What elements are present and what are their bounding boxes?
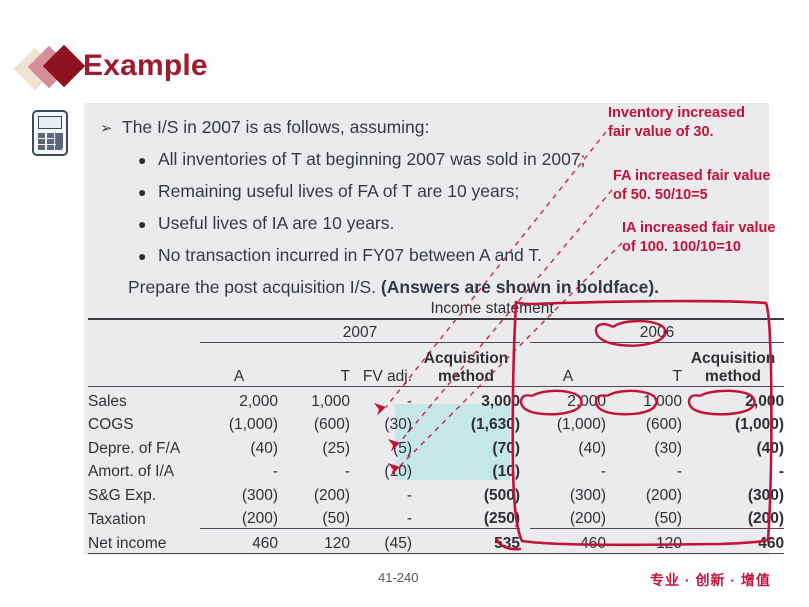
bullet-item-3: ●Useful lives of IA are 10 years. (138, 208, 660, 240)
table-row: COGS (1,000) (600) (30) (1,630) (1,000) … (88, 411, 784, 435)
colheader-2007-t: T (278, 343, 350, 387)
closing-bold: (Answers are shown in boldface). (381, 277, 659, 297)
cell-2007-a: - (200, 458, 278, 482)
round-bullet-icon: ● (138, 241, 158, 272)
annotation-line-2: of 100. 100/10=10 (622, 238, 775, 257)
annotation-line-1: IA increased fair value (622, 219, 775, 238)
cell-2006-t: 120 (606, 529, 682, 554)
bullet-text: No transaction incurred in FY07 between … (158, 245, 542, 265)
cell-2006-acq: 2,000 (682, 387, 784, 411)
cell-2007-a: (1,000) (200, 411, 278, 435)
bullet-item-1: ●All inventories of T at beginning 2007 … (138, 144, 660, 176)
colheader-2006-acq-label: Acquisition method (682, 350, 784, 386)
annotation-ia: IA increased fair value of 100. 100/10=1… (622, 219, 775, 257)
cell-2007-t: (200) (278, 481, 350, 505)
super-header-cell: Income statement (200, 296, 784, 319)
lead-text: The I/S in 2007 is as follows, assuming: (122, 117, 429, 137)
spacer-cell (88, 296, 200, 319)
table-superheader-row: Income statement (88, 296, 784, 319)
cell-2007-t: - (278, 458, 350, 482)
brand-slogan: 专业 · 创新 · 增值 (650, 570, 771, 590)
arrow-bullet-icon: ➢ (100, 113, 122, 144)
cell-2007-fvadj: - (350, 505, 412, 529)
colheader-2007-acq-label: Acquisition method (412, 350, 520, 386)
row-label: COGS (88, 411, 200, 435)
annotation-fa: FA increased fair value of 50. 50/10=5 (613, 167, 770, 205)
spacer-cell (520, 505, 530, 529)
table-year-row: 2007 2006 (88, 319, 784, 343)
cell-2006-acq: (1,000) (682, 411, 784, 435)
cell-2006-t: (600) (606, 411, 682, 435)
colheader-2006-acq: Acquisition method (682, 343, 784, 387)
cell-2007-fvadj: (30) (350, 411, 412, 435)
page-title: Example (83, 49, 208, 83)
cell-2007-a: (300) (200, 481, 278, 505)
round-bullet-icon: ● (138, 145, 158, 176)
cell-2007-acq: (70) (412, 434, 520, 458)
cell-2007-acq: (500) (412, 481, 520, 505)
cell-2007-acq: (10) (412, 458, 520, 482)
spacer-cell (520, 411, 530, 435)
bullet-text: Remaining useful lives of FA of T are 10… (158, 181, 519, 201)
cell-2007-fvadj: (45) (350, 529, 412, 554)
spacer-cell (520, 481, 530, 505)
year-left-cell: 2007 (200, 319, 520, 343)
cell-2007-t: 1,000 (278, 387, 350, 411)
cell-2006-a: (40) (530, 434, 606, 458)
spacer-cell (88, 343, 200, 387)
cell-2006-acq: (300) (682, 481, 784, 505)
cell-2007-t: (50) (278, 505, 350, 529)
annotation-line-2: fair value of 30. (608, 123, 745, 142)
cell-2006-t: (30) (606, 434, 682, 458)
cell-2007-t: (25) (278, 434, 350, 458)
row-label: S&G Exp. (88, 481, 200, 505)
table-row: Depre. of F/A (40) (25) (5) (70) (40) (3… (88, 434, 784, 458)
spacer-cell (520, 458, 530, 482)
annotation-inventory: Inventory increased fair value of 30. (608, 104, 745, 142)
row-label: Sales (88, 387, 200, 411)
colheader-2007-acq: Acquisition method (412, 343, 520, 387)
closing-plain: Prepare the post acquisition I/S. (128, 277, 381, 297)
table-row: Net income 460 120 (45) 535 460 120 460 (88, 529, 784, 554)
colheader-2006-t: T (606, 343, 682, 387)
cell-2006-t: (200) (606, 481, 682, 505)
cell-2006-acq: (40) (682, 434, 784, 458)
bullet-text: All inventories of T at beginning 2007 w… (158, 149, 585, 169)
row-label: Amort. of I/A (88, 458, 200, 482)
row-label: Net income (88, 529, 200, 554)
table-row: Amort. of I/A - - (10) (10) - - - (88, 458, 784, 482)
colheader-2007-a: A (200, 343, 278, 387)
income-statement-table: Income statement 2007 2006 A T FV adj. A… (88, 296, 768, 554)
calculator-enter-key (56, 133, 63, 148)
cell-2007-acq: (1,630) (412, 411, 520, 435)
colheader-2006-a: A (530, 343, 606, 387)
row-label: Taxation (88, 505, 200, 529)
bullet-item-2: ●Remaining useful lives of FA of T are 1… (138, 176, 660, 208)
lead-line: ➢The I/S in 2007 is as follows, assuming… (100, 112, 660, 144)
cell-2007-fvadj: - (350, 481, 412, 505)
cell-2006-a: 460 (530, 529, 606, 554)
round-bullet-icon: ● (138, 177, 158, 208)
cell-2006-acq: (200) (682, 505, 784, 529)
cell-2006-acq: 460 (682, 529, 784, 554)
table-row: Taxation (200) (50) - (250) (200) (50) (… (88, 505, 784, 529)
calculator-icon (32, 110, 68, 156)
cell-2006-acq: - (682, 458, 784, 482)
cell-2007-a: (200) (200, 505, 278, 529)
year-right-cell: 2006 (530, 319, 784, 343)
cell-2006-t: (50) (606, 505, 682, 529)
spacer-cell (520, 387, 530, 411)
cell-2007-acq: 535 (412, 529, 520, 554)
cell-2007-t: 120 (278, 529, 350, 554)
cell-2007-acq: (250) (412, 505, 520, 529)
cell-2006-t: - (606, 458, 682, 482)
spacer-cell (520, 343, 530, 387)
bullet-item-4: ●No transaction incurred in FY07 between… (138, 240, 660, 272)
page-number: 41-240 (378, 570, 418, 585)
slide-canvas: Example ➢The I/S in 2007 is as follows, … (0, 0, 809, 607)
spacer-cell (520, 434, 530, 458)
cell-2006-a: 2,000 (530, 387, 606, 411)
spacer-cell (520, 319, 530, 343)
round-bullet-icon: ● (138, 209, 158, 240)
calculator-screen (38, 116, 62, 129)
row-label: Depre. of F/A (88, 434, 200, 458)
cell-2006-a: (300) (530, 481, 606, 505)
cell-2006-t: 1,000 (606, 387, 682, 411)
bullet-block: ➢The I/S in 2007 is as follows, assuming… (100, 112, 660, 303)
spacer-cell (520, 529, 530, 554)
colheader-2007-fvadj: FV adj. (350, 343, 412, 387)
annotation-line-1: FA increased fair value (613, 167, 770, 186)
table-row: Sales 2,000 1,000 - 3,000 2,000 1,000 2,… (88, 387, 784, 411)
annotation-line-1: Inventory increased (608, 104, 745, 123)
diamond-logo-icon (18, 44, 92, 92)
spacer-cell (88, 319, 200, 343)
bullet-text: Useful lives of IA are 10 years. (158, 213, 394, 233)
annotation-line-2: of 50. 50/10=5 (613, 186, 770, 205)
cell-2007-t: (600) (278, 411, 350, 435)
cell-2007-a: 2,000 (200, 387, 278, 411)
cell-2007-a: 460 (200, 529, 278, 554)
table-row: S&G Exp. (300) (200) - (500) (300) (200)… (88, 481, 784, 505)
table-column-header-row: A T FV adj. Acquisition method A T Acqui… (88, 343, 784, 387)
cell-2007-acq: 3,000 (412, 387, 520, 411)
cell-2007-fvadj: (5) (350, 434, 412, 458)
cell-2006-a: (200) (530, 505, 606, 529)
cell-2006-a: - (530, 458, 606, 482)
cell-2007-fvadj: (10) (350, 458, 412, 482)
cell-2007-fvadj: - (350, 387, 412, 411)
cell-2007-a: (40) (200, 434, 278, 458)
cell-2006-a: (1,000) (530, 411, 606, 435)
